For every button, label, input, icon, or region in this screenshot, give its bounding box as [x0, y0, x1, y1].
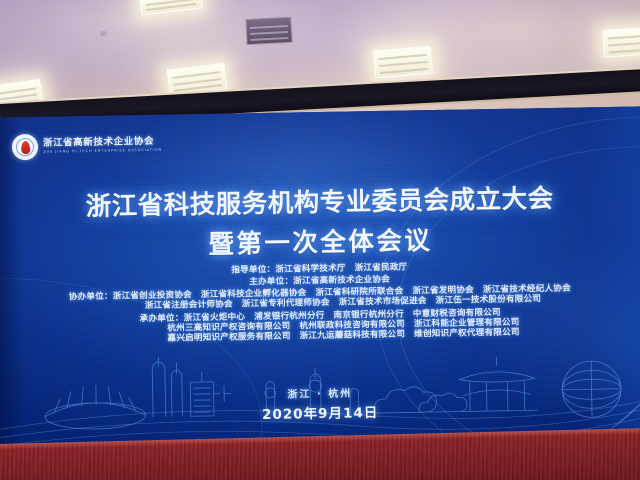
event-title: 浙江省科技服务机构专业委员会成立大会 暨第一次全体会议: [0, 176, 640, 264]
ceiling-light-panel: [602, 26, 640, 58]
unit-names: 浙江省高新技术企业协会: [293, 275, 390, 287]
unit-name: 浙江省注册会计师协会: [145, 300, 233, 312]
zjhta-emblem-icon: [12, 134, 38, 160]
unit-name: 浙江省科学技术厅: [275, 264, 346, 275]
unit-name: 浙江省专利代理师协会: [242, 298, 330, 310]
conference-stage-photo: 浙江省高新技术企业协会 ZHE JIANG HI-TECH ENTERPRISE…: [0, 0, 640, 480]
unit-names: 浙江省科学技术厅浙江省民政厅: [275, 262, 407, 274]
unit-name: 嘉兴启明知识产权服务有限公司: [167, 331, 290, 343]
logo-chinese-name: 浙江省高新技术企业协会: [43, 137, 162, 149]
unit-name: 浙江省技术市场促进会: [339, 297, 427, 309]
unit-label: 指导单位：: [231, 265, 275, 276]
ceiling-air-vent: [245, 17, 292, 45]
organizing-units-block: 指导单位：浙江省科学技术厅浙江省民政厅主办单位：浙江省高新技术企业协会协办单位：…: [0, 258, 640, 348]
ceiling-smoke-detector: [100, 31, 107, 36]
unit-name: 维创知识产权代理有限公司: [414, 327, 520, 339]
unit-name: 浙江伍一技术股份有限公司: [436, 295, 542, 307]
unit-label: 协办单位：: [69, 292, 113, 303]
association-logo: 浙江省高新技术企业协会 ZHE JIANG HI-TECH ENTERPRISE…: [12, 132, 162, 161]
unit-name: 浙江省高新技术企业协会: [293, 275, 390, 287]
unit-label: 主办单位：: [249, 277, 293, 288]
unit-name: 浙江省民政厅: [355, 262, 408, 273]
logo-english-name: ZHE JIANG HI-TECH ENTERPRISE ASSOCIATION: [43, 149, 162, 154]
ceiling-light-panel: [373, 46, 433, 79]
unit-name: 浙江九运蘑菇科技有限公司: [300, 329, 406, 341]
